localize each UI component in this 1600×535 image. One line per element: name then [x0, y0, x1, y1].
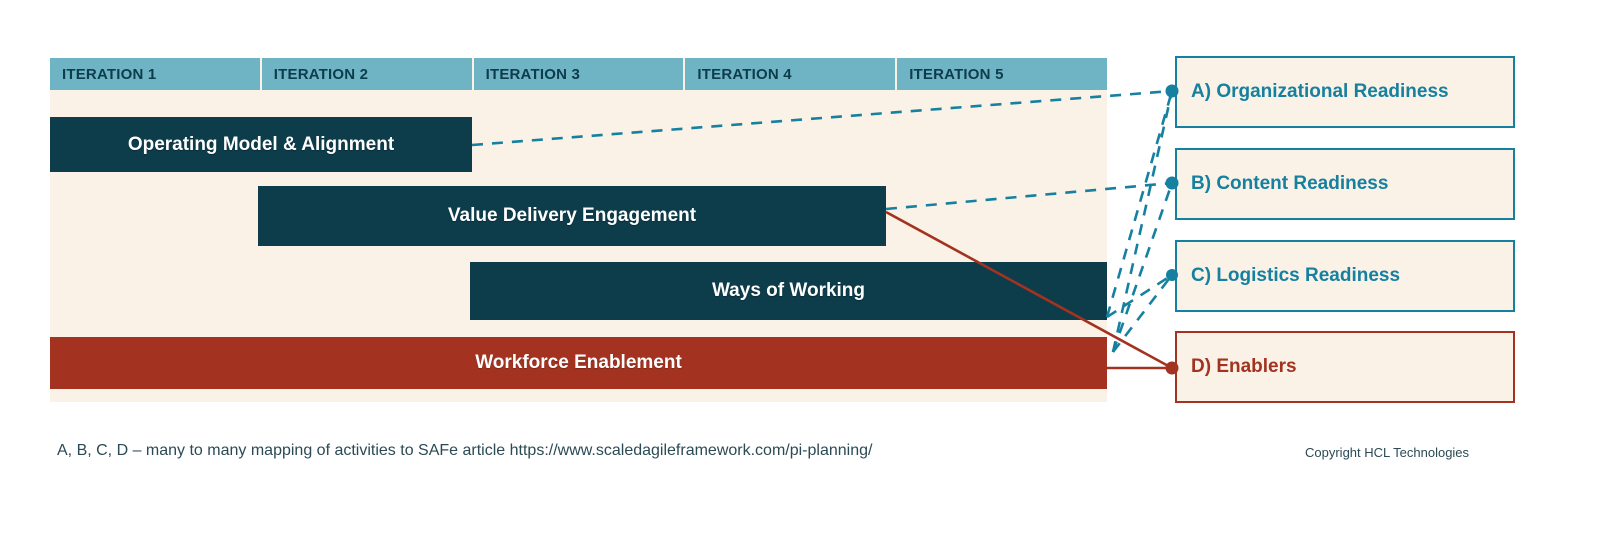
- connector-workforce-to-c: [1113, 275, 1172, 352]
- iteration-cell-4: ITERATION 4: [685, 58, 897, 90]
- iteration-cell-3: ITERATION 3: [474, 58, 686, 90]
- activity-bar-value-delivery: Value Delivery Engagement: [258, 186, 886, 246]
- iteration-header-row: ITERATION 1 ITERATION 2 ITERATION 3 ITER…: [50, 58, 1107, 90]
- connector-ways-of-working-to-a: [1107, 91, 1172, 317]
- footnote-text: A, B, C, D – many to many mapping of act…: [57, 442, 872, 460]
- iteration-cell-5: ITERATION 5: [897, 58, 1107, 90]
- iteration-cell-1: ITERATION 1: [50, 58, 262, 90]
- activity-bar-ways-of-working: Ways of Working: [470, 262, 1107, 320]
- activity-bar-workforce-enablement: Workforce Enablement: [50, 337, 1107, 389]
- copyright-text: Copyright HCL Technologies: [1305, 445, 1469, 460]
- readiness-box-d-enablers[interactable]: D) Enablers: [1175, 331, 1515, 403]
- activity-bar-operating-model: Operating Model & Alignment: [50, 117, 472, 172]
- readiness-box-c-logistics-readiness[interactable]: C) Logistics Readiness: [1175, 240, 1515, 312]
- readiness-box-b-content-readiness[interactable]: B) Content Readiness: [1175, 148, 1515, 220]
- diagram-canvas: ITERATION 1 ITERATION 2 ITERATION 3 ITER…: [0, 0, 1600, 535]
- connector-workforce-to-b: [1113, 183, 1172, 352]
- readiness-box-a-organizational-readiness[interactable]: A) Organizational Readiness: [1175, 56, 1515, 128]
- connector-workforce-to-a: [1113, 91, 1172, 352]
- connector-ways-of-working-to-c: [1107, 275, 1172, 317]
- iteration-cell-2: ITERATION 2: [262, 58, 474, 90]
